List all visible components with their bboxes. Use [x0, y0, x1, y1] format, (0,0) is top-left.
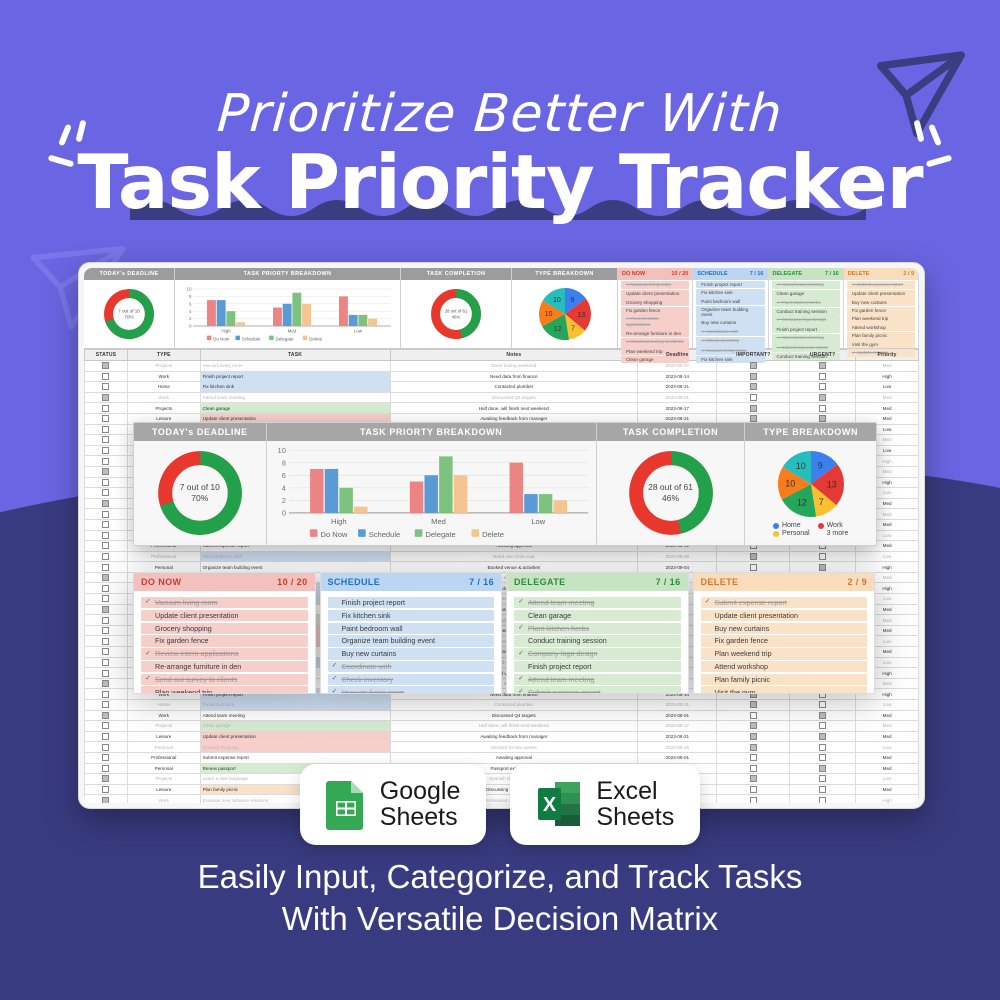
table-cell[interactable]: Clean garage [200, 721, 390, 732]
table-cell[interactable]: 2023-08-14 [638, 371, 717, 382]
table-cell[interactable]: Discussed Q4 targets [390, 392, 638, 403]
kanban-task[interactable]: ✓Review intern applications [141, 648, 308, 659]
task-check-icon[interactable]: ✓ [145, 599, 151, 606]
schedule-column[interactable]: SCHEDULE7 / 16Finish project reportFix k… [320, 572, 503, 694]
important-checkbox[interactable] [750, 722, 757, 729]
table-cell[interactable] [85, 583, 128, 594]
kanban-column-title: DELETE [701, 577, 739, 587]
kanban-task[interactable]: ✓Submit expense report [514, 686, 681, 694]
mini-kanban-task: ✓ Coordinate with [696, 327, 764, 336]
table-cell[interactable] [85, 647, 128, 658]
kanban-column-header: DELEGATE7 / 16 [507, 573, 688, 591]
status-checkbox[interactable] [102, 394, 109, 401]
kanban-task[interactable]: ✓Vacuum living room [141, 597, 308, 608]
table-cell[interactable]: Projects [127, 721, 200, 732]
task-check-icon[interactable]: ✓ [518, 689, 524, 694]
table-cell[interactable] [85, 721, 128, 732]
table-header-cell: TYPE [127, 350, 200, 361]
table-cell[interactable] [85, 435, 128, 446]
table-cell[interactable]: Work [127, 371, 200, 382]
kanban-task[interactable]: ✓Attend team meeting [514, 597, 681, 608]
table-cell[interactable]: Attend team meeting [200, 710, 390, 721]
pie-legend-item: Work [818, 522, 849, 529]
status-checkbox[interactable] [102, 458, 109, 465]
table-cell[interactable]: Need one more coat [390, 551, 638, 562]
table-row[interactable]: HomeFix kitchen sinkContacted plumber202… [85, 700, 919, 711]
important-checkbox[interactable] [750, 394, 757, 401]
table-cell[interactable]: 2023-08-17 [638, 721, 717, 732]
table-cell[interactable]: Work [127, 392, 200, 403]
kanban-task[interactable]: Clean garage [514, 610, 681, 621]
kanban-task-list: ✓Attend team meetingClean garage✓Plant k… [507, 591, 688, 694]
table-cell[interactable]: Organize team building event [200, 562, 390, 573]
urgent-checkbox[interactable] [819, 701, 826, 708]
table-row[interactable]: WorkFinish project reportNeed data from … [85, 371, 919, 382]
important-checkbox[interactable] [750, 383, 757, 390]
mini-deadline-donut: 7 out of 10 70% [102, 287, 156, 341]
mini-kanban-task: ✓ Submit expense report [847, 281, 915, 290]
table-cell[interactable]: 2023-08-28 [638, 551, 717, 562]
urgent-checkbox[interactable] [819, 733, 826, 740]
table-cell[interactable]: High [856, 562, 919, 573]
table-cell[interactable]: Personal [127, 562, 200, 573]
table-cell[interactable]: Leisure [127, 731, 200, 742]
table-cell[interactable]: Med [856, 361, 919, 372]
table-cell[interactable] [85, 615, 128, 626]
status-checkbox[interactable] [102, 405, 109, 412]
table-cell[interactable] [717, 721, 790, 732]
kanban-task-list: ✓Vacuum living roomUpdate client present… [134, 591, 315, 694]
table-cell[interactable]: Awaiting approval [390, 752, 638, 763]
task-check-icon[interactable]: ✓ [518, 651, 524, 658]
kanban-task[interactable]: Organize team building event [328, 635, 495, 646]
table-cell[interactable] [85, 530, 128, 541]
kanban-task[interactable]: Conduct training session [514, 635, 681, 646]
table-cell[interactable] [85, 519, 128, 530]
table-cell[interactable]: Low [856, 382, 919, 393]
table-cell[interactable] [85, 636, 128, 647]
table-cell[interactable] [85, 541, 128, 552]
table-cell[interactable]: Discussed Q4 targets [390, 710, 638, 721]
task-check-icon[interactable]: ✓ [518, 625, 524, 632]
table-cell[interactable]: Low [856, 700, 919, 711]
table-row[interactable]: ProfessionalPaint bedroom wallNeed one m… [85, 551, 919, 562]
task-label: Submit expense report [715, 599, 787, 606]
kanban-task[interactable]: ✓Vacuum living room [328, 686, 495, 694]
table-row[interactable]: LeisureUpdate client presentationAwaitin… [85, 731, 919, 742]
table-row[interactable]: ProjectsClean garageHalf done, will fini… [85, 403, 919, 414]
kanban-task[interactable]: Re-arrange furniture in den [141, 661, 308, 672]
urgent-checkbox[interactable] [819, 383, 826, 390]
important-checkbox[interactable] [750, 701, 757, 708]
important-checkbox[interactable] [750, 744, 757, 751]
status-checkbox[interactable] [102, 553, 109, 560]
status-checkbox[interactable] [102, 606, 109, 613]
task-check-icon[interactable]: ✓ [705, 599, 711, 606]
table-cell[interactable]: Contacted plumber [390, 382, 638, 393]
table-cell[interactable] [85, 678, 128, 689]
completion-donut-count: 28 out of 61 [648, 482, 693, 493]
table-cell[interactable] [790, 382, 856, 393]
table-cell[interactable]: Half done, will finish next weekend [390, 403, 638, 414]
svg-text:Delegate: Delegate [425, 530, 455, 539]
task-check-icon[interactable]: ✓ [518, 676, 524, 683]
status-checkbox[interactable] [102, 362, 109, 369]
table-cell[interactable] [85, 509, 128, 520]
table-cell[interactable] [717, 403, 790, 414]
mini-kanban-count: 7 / 16 [750, 271, 764, 277]
card-title: TODAY's DEADLINE [134, 423, 266, 441]
table-cell[interactable]: Med [856, 392, 919, 403]
svg-text:12: 12 [553, 326, 561, 333]
table-cell[interactable]: Submit expense report [200, 752, 390, 763]
mini-kanban-task: Finish project report [772, 325, 840, 333]
kanban-column-header: SCHEDULE7 / 16 [321, 573, 502, 591]
table-cell[interactable] [85, 731, 128, 742]
urgent-checkbox[interactable] [819, 362, 826, 369]
status-checkbox[interactable] [102, 415, 109, 422]
table-cell[interactable]: 2023-08-21 [638, 731, 717, 742]
google-sheets-badge[interactable]: Google Sheets [300, 764, 487, 845]
table-cell[interactable]: Home [127, 700, 200, 711]
table-cell[interactable]: Low [856, 551, 919, 562]
table-cell[interactable] [717, 382, 790, 393]
status-checkbox[interactable] [102, 479, 109, 486]
status-checkbox[interactable] [102, 373, 109, 380]
delete-column[interactable]: DELETE2 / 9✓Submit expense reportUpdate … [693, 572, 876, 694]
kanban-task[interactable]: ✓Check inventory [328, 674, 495, 685]
table-cell[interactable]: Awaiting feedback from manager [390, 731, 638, 742]
table-cell[interactable]: Clean garage [200, 403, 390, 414]
table-cell[interactable] [85, 668, 128, 679]
table-cell[interactable] [717, 731, 790, 742]
status-checkbox[interactable] [102, 617, 109, 624]
important-checkbox[interactable] [750, 733, 757, 740]
important-checkbox[interactable] [750, 712, 757, 719]
task-check-icon[interactable]: ✓ [332, 676, 338, 683]
task-label: Visit the gym [715, 689, 756, 694]
table-row[interactable]: WorkAttend team meetingDiscussed Q4 targ… [85, 710, 919, 721]
table-cell[interactable]: Grocery shopping [200, 742, 390, 753]
table-cell[interactable] [85, 752, 128, 763]
table-cell[interactable]: 2023-09-04 [638, 562, 717, 573]
table-cell[interactable] [85, 572, 128, 583]
do-now-column[interactable]: DO NOW10 / 20✓Vacuum living roomUpdate c… [133, 572, 316, 694]
status-checkbox[interactable] [102, 489, 109, 496]
status-checkbox[interactable] [102, 680, 109, 687]
kanban-task[interactable]: Finish project report [328, 597, 495, 608]
kanban-task[interactable]: ✓Coordinate with [328, 661, 495, 672]
table-cell[interactable]: Professional [127, 752, 200, 763]
table-cell[interactable] [85, 700, 128, 711]
important-checkbox[interactable] [750, 564, 757, 571]
kanban-task[interactable]: Plan family picnic [701, 674, 868, 685]
svg-text:6: 6 [189, 301, 192, 306]
task-check-icon[interactable]: ✓ [518, 599, 524, 606]
task-label: Grocery shopping [155, 625, 212, 632]
table-cell[interactable]: Projects [127, 403, 200, 414]
task-label: Organize team building event [342, 637, 436, 644]
table-cell[interactable]: 2023-08-17 [638, 403, 717, 414]
status-checkbox[interactable] [102, 521, 109, 528]
task-check-icon[interactable]: ✓ [145, 676, 151, 683]
status-checkbox[interactable] [102, 701, 109, 708]
status-checkbox[interactable] [102, 542, 109, 549]
task-label: Check inventory [342, 676, 394, 683]
important-checkbox[interactable] [750, 553, 757, 560]
table-cell[interactable] [85, 382, 128, 393]
table-cell[interactable]: Med [856, 721, 919, 732]
table-cell[interactable] [717, 700, 790, 711]
mini-kanban-header: SCHEDULE7 / 16 [693, 268, 767, 280]
table-row[interactable]: PersonalGrocery shoppingStocked for two … [85, 742, 919, 753]
table-row[interactable]: ProfessionalSubmit expense reportAwaitin… [85, 752, 919, 763]
table-cell[interactable] [85, 562, 128, 573]
kanban-task[interactable]: Attend workshop [701, 661, 868, 672]
status-checkbox[interactable] [102, 754, 109, 761]
important-checkbox[interactable] [750, 362, 757, 369]
svg-text:4: 4 [281, 483, 285, 492]
task-label: Re-arrange furniture in den [155, 663, 241, 670]
kanban-task[interactable]: ✓Send out survey to clients [141, 674, 308, 685]
mini-kanban-task: Fix garden fence [847, 307, 915, 315]
status-checkbox[interactable] [102, 468, 109, 475]
status-checkbox[interactable] [102, 691, 109, 698]
status-checkbox[interactable] [102, 670, 109, 677]
urgent-checkbox[interactable] [819, 754, 826, 761]
table-cell[interactable]: Professional [127, 551, 200, 562]
urgent-checkbox[interactable] [819, 722, 826, 729]
table-cell[interactable] [717, 392, 790, 403]
kanban-task[interactable]: Plan weekend trip [141, 686, 308, 694]
table-cell[interactable] [85, 710, 128, 721]
table-cell[interactable]: Low [856, 742, 919, 753]
kanban-task[interactable]: Update client presentation [701, 610, 868, 621]
table-cell[interactable]: Half done, will finish next weekend [390, 721, 638, 732]
kanban-task[interactable]: Plan weekend trip [701, 648, 868, 659]
table-cell[interactable]: Fix kitchen sink [200, 382, 390, 393]
table-row[interactable]: ProjectsVacuum living roomDone during we… [85, 361, 919, 372]
important-checkbox[interactable] [750, 373, 757, 380]
table-cell[interactable] [85, 456, 128, 467]
kanban-task[interactable]: ✓Submit expense report [701, 597, 868, 608]
table-cell[interactable]: Vacuum living room [200, 361, 390, 372]
table-cell[interactable]: Med [856, 710, 919, 721]
task-label: Company logo design [528, 650, 598, 657]
table-row[interactable]: WorkAttend team meetingDiscussed Q4 targ… [85, 392, 919, 403]
status-checkbox[interactable] [102, 595, 109, 602]
status-checkbox[interactable] [102, 447, 109, 454]
table-cell[interactable]: Booked venue & activities [390, 562, 638, 573]
table-cell[interactable]: Contacted plumber [390, 700, 638, 711]
status-checkbox[interactable] [102, 564, 109, 571]
table-cell[interactable]: Paint bedroom wall [200, 551, 390, 562]
header-kicker: Prioritize Better With [0, 84, 1000, 144]
table-cell[interactable]: 2023-08-21 [638, 700, 717, 711]
status-checkbox[interactable] [102, 744, 109, 751]
table-cell[interactable] [717, 752, 790, 763]
table-cell[interactable] [85, 371, 128, 382]
table-cell[interactable] [85, 657, 128, 668]
kanban-task[interactable]: Finish project report [514, 661, 681, 672]
kanban-task[interactable]: Buy new curtains [328, 648, 495, 659]
table-cell[interactable] [790, 752, 856, 763]
task-check-icon[interactable]: ✓ [332, 663, 338, 670]
kanban-task[interactable]: Fix garden fence [141, 635, 308, 646]
table-cell[interactable] [85, 413, 128, 424]
status-checkbox[interactable] [102, 585, 109, 592]
urgent-checkbox[interactable] [819, 553, 826, 560]
type-pie-chart: 9137121010 [774, 449, 848, 519]
task-completion-donut: 28 out of 61 46% [625, 447, 717, 539]
kanban-task[interactable]: Fix garden fence [701, 635, 868, 646]
kanban-task[interactable]: Fix kitchen sink [328, 610, 495, 621]
urgent-checkbox[interactable] [819, 744, 826, 751]
kanban-task[interactable]: ✓Company logo design [514, 648, 681, 659]
table-cell[interactable] [790, 392, 856, 403]
table-cell[interactable]: Personal [127, 742, 200, 753]
delegate-column[interactable]: DELEGATE7 / 16✓Attend team meetingClean … [506, 572, 689, 694]
table-row[interactable]: PersonalOrganize team building eventBook… [85, 562, 919, 573]
status-checkbox[interactable] [102, 712, 109, 719]
table-cell[interactable] [85, 403, 128, 414]
table-cell[interactable] [85, 424, 128, 435]
table-cell[interactable] [85, 445, 128, 456]
status-checkbox[interactable] [102, 383, 109, 390]
svg-text:0: 0 [281, 509, 285, 518]
kanban-overlay[interactable]: DO NOW10 / 20✓Vacuum living roomUpdate c… [133, 572, 875, 694]
table-cell[interactable] [790, 403, 856, 414]
table-cell[interactable]: 2023-08-01 [638, 710, 717, 721]
table-cell[interactable] [717, 551, 790, 562]
status-checkbox[interactable] [102, 436, 109, 443]
table-cell[interactable]: 2023-08-21 [638, 382, 717, 393]
kanban-task[interactable]: ✓Plant kitchen herbs [514, 623, 681, 634]
mini-kanban-task: ✓ Send out survey to clients [621, 338, 689, 347]
kanban-task[interactable]: ✓Attend team meeting [514, 674, 681, 685]
table-cell[interactable]: Need data from finance [390, 371, 638, 382]
table-cell[interactable] [85, 392, 128, 403]
status-checkbox[interactable] [102, 511, 109, 518]
table-cell[interactable] [717, 371, 790, 382]
table-cell[interactable] [790, 731, 856, 742]
table-row[interactable]: HomeFix kitchen sinkContacted plumber202… [85, 382, 919, 393]
svg-text:Low: Low [354, 329, 363, 334]
table-cell[interactable]: 2023-08-01 [638, 392, 717, 403]
important-checkbox[interactable] [750, 405, 757, 412]
table-cell[interactable]: 2023-08-01 [638, 752, 717, 763]
status-checkbox[interactable] [102, 722, 109, 729]
table-cell[interactable]: Done during weekend [390, 361, 638, 372]
table-cell[interactable] [85, 742, 128, 753]
table-cell[interactable]: Med [856, 403, 919, 414]
task-check-icon[interactable]: ✓ [145, 651, 151, 658]
kanban-task[interactable]: Grocery shopping [141, 623, 308, 634]
urgent-checkbox[interactable] [819, 712, 826, 719]
header: Prioritize Better With Task Priority Tra… [0, 0, 1000, 250]
table-cell[interactable] [85, 361, 128, 372]
table-cell[interactable] [717, 710, 790, 721]
kanban-column-count: 10 / 20 [277, 577, 307, 587]
status-checkbox[interactable] [102, 500, 109, 507]
status-checkbox[interactable] [102, 659, 109, 666]
urgent-checkbox[interactable] [819, 394, 826, 401]
table-cell[interactable] [85, 466, 128, 477]
status-checkbox[interactable] [102, 627, 109, 634]
status-checkbox[interactable] [102, 426, 109, 433]
urgent-checkbox[interactable] [819, 564, 826, 571]
table-cell[interactable] [85, 604, 128, 615]
table-cell[interactable] [790, 562, 856, 573]
table-cell[interactable] [85, 594, 128, 605]
mini-card-title: TODAY's DEADLINE [84, 268, 174, 280]
status-checkbox[interactable] [102, 638, 109, 645]
urgent-checkbox[interactable] [819, 373, 826, 380]
table-row[interactable]: ProjectsClean garageHalf done, will fini… [85, 721, 919, 732]
svg-text:Schedule: Schedule [242, 336, 261, 341]
table-cell[interactable] [717, 742, 790, 753]
table-cell[interactable] [85, 689, 128, 700]
task-label: Plan weekend trip [155, 689, 212, 694]
table-cell[interactable] [790, 361, 856, 372]
table-cell[interactable]: Work [127, 710, 200, 721]
urgent-checkbox[interactable] [819, 405, 826, 412]
todays-deadline-card: TODAY's DEADLINE 7 out of 10 70% [134, 423, 267, 545]
table-cell[interactable] [790, 742, 856, 753]
kanban-task[interactable]: Paint bedroom wall [328, 623, 495, 634]
table-cell[interactable]: Update client presentation [200, 731, 390, 742]
table-cell[interactable]: Med [856, 731, 919, 742]
kanban-task[interactable]: Update client presentation [141, 610, 308, 621]
table-cell[interactable]: Finish project report [200, 371, 390, 382]
mini-do-now-column: DO NOW10 / 20✓ Vacuum living room Update… [618, 268, 693, 348]
table-cell[interactable]: Home [127, 382, 200, 393]
kanban-task[interactable]: Buy new curtains [701, 623, 868, 634]
table-cell[interactable]: Attend team meeting [200, 392, 390, 403]
status-checkbox[interactable] [102, 733, 109, 740]
table-cell[interactable]: High [856, 371, 919, 382]
status-checkbox[interactable] [102, 532, 109, 539]
table-cell[interactable]: Stocked for two weeks [390, 742, 638, 753]
table-cell[interactable] [790, 710, 856, 721]
mini-bar-chart: 0246810HighMedLowDo NowScheduleDelegateD… [180, 285, 395, 343]
table-cell[interactable]: 2023-08-16 [638, 742, 717, 753]
task-check-icon[interactable]: ✓ [332, 689, 338, 694]
status-checkbox[interactable] [102, 648, 109, 655]
table-cell[interactable] [790, 700, 856, 711]
kanban-column-count: 7 / 16 [469, 577, 494, 587]
table-cell[interactable] [85, 477, 128, 488]
kanban-task[interactable]: Visit the gym [701, 686, 868, 694]
table-cell[interactable] [85, 498, 128, 509]
status-checkbox[interactable] [102, 574, 109, 581]
table-cell[interactable] [85, 551, 128, 562]
table-cell[interactable] [717, 562, 790, 573]
excel-sheets-badge[interactable]: X Excel Sheets [510, 764, 700, 845]
mini-kanban-task: Update client presentation [621, 290, 689, 298]
table-cell[interactable]: Projects [127, 361, 200, 372]
table-cell[interactable] [85, 488, 128, 499]
table-cell[interactable]: Fix kitchen sink [200, 700, 390, 711]
table-cell[interactable] [790, 721, 856, 732]
legend-color-dot [818, 523, 824, 529]
table-cell[interactable]: Med [856, 752, 919, 763]
important-checkbox[interactable] [750, 754, 757, 761]
table-cell[interactable] [790, 371, 856, 382]
legend-color-dot [773, 523, 779, 529]
table-cell[interactable] [85, 625, 128, 636]
table-cell[interactable] [790, 551, 856, 562]
